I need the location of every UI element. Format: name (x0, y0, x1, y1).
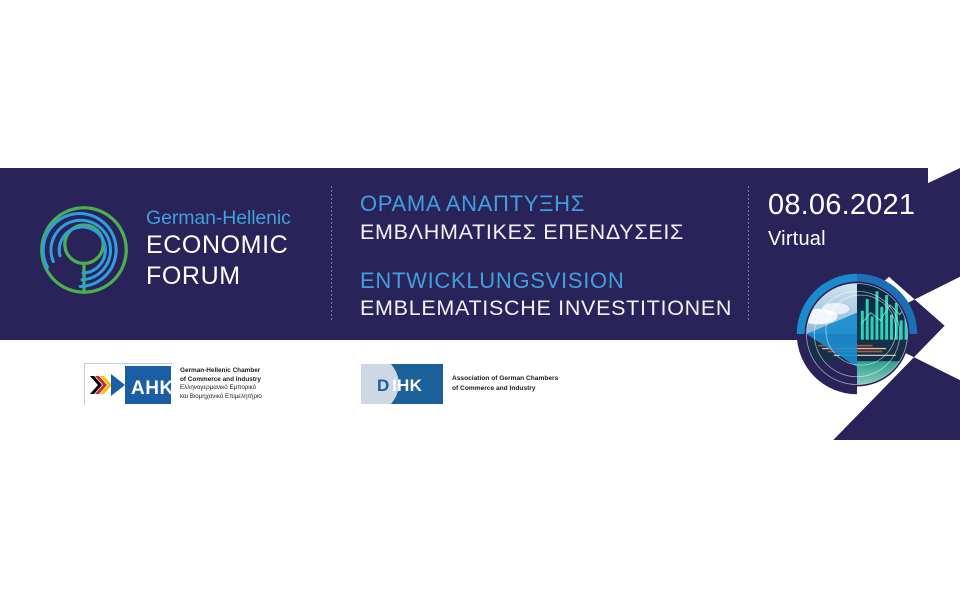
dihk-line-2: of Commerce and Industry (452, 384, 558, 394)
dihk-line-1: Association of German Chambers (452, 374, 558, 384)
dihk-badge: D IHK (361, 364, 443, 404)
divider-left (331, 186, 332, 322)
brand-lockup: German-Hellenic ECONOMIC FORUM (36, 190, 326, 310)
brand-wordmark: German-Hellenic ECONOMIC FORUM (146, 207, 291, 293)
ahk-badge-icon: AHK (85, 364, 173, 406)
partner-logo-ahk: AHK German-Hellenic Chamber of Commerce … (84, 363, 262, 405)
headline-german-accent: ENTWICKLUNGSVISION (360, 267, 746, 296)
svg-text:AHK: AHK (131, 378, 173, 399)
ahk-line-2: of Commerce and Industry (180, 375, 262, 384)
ahk-line-4: και Βιομηχανικό Επιμελητήριο (180, 393, 262, 402)
ahk-badge: AHK (84, 363, 172, 405)
event-date: 08.06.2021 (768, 188, 915, 223)
ahk-line-1: German-Hellenic Chamber (180, 366, 262, 375)
ahk-line-3: Ελληνογερμανικό Εμπορικό (180, 384, 262, 393)
banner-page: German-Hellenic ECONOMIC FORUM ΟΡΑΜΑ ΑΝΑ… (0, 0, 960, 600)
ahk-description: German-Hellenic Chamber of Commerce and … (180, 366, 262, 402)
brand-line-forum: FORUM (146, 261, 291, 292)
event-format: Virtual (768, 226, 915, 253)
divider-right (748, 186, 749, 322)
headline-greek-white: ΕΜΒΛΗΜΑΤΙΚΕΣ ΕΠΕΝΔΥΣΕΙΣ (360, 219, 746, 247)
svg-text:IHK: IHK (392, 376, 423, 395)
dihk-badge-icon: D IHK (361, 364, 443, 404)
svg-text:D: D (377, 376, 390, 395)
brand-line-german-hellenic: German-Hellenic (146, 207, 291, 230)
brand-line-economic: ECONOMIC (146, 230, 291, 261)
circular-collage-icon (789, 266, 925, 402)
headline-german-white: EMBLEMATISCHE INVESTITIONEN (360, 295, 746, 323)
spiral-logo-icon (36, 202, 132, 298)
event-date-block: 08.06.2021 Virtual (768, 188, 915, 253)
dihk-description: Association of German Chambers of Commer… (452, 374, 558, 393)
headline-block: ΟΡΑΜΑ ΑΝΑΠΤΥΞΗΣ ΕΜΒΛΗΜΑΤΙΚΕΣ ΕΠΕΝΔΥΣΕΙΣ … (360, 190, 746, 323)
headline-german-group: ENTWICKLUNGSVISION EMBLEMATISCHE INVESTI… (360, 267, 746, 324)
partner-logo-dihk: D IHK Association of German Chambers of … (361, 364, 558, 404)
headline-greek-accent: ΟΡΑΜΑ ΑΝΑΠΤΥΞΗΣ (360, 190, 746, 219)
